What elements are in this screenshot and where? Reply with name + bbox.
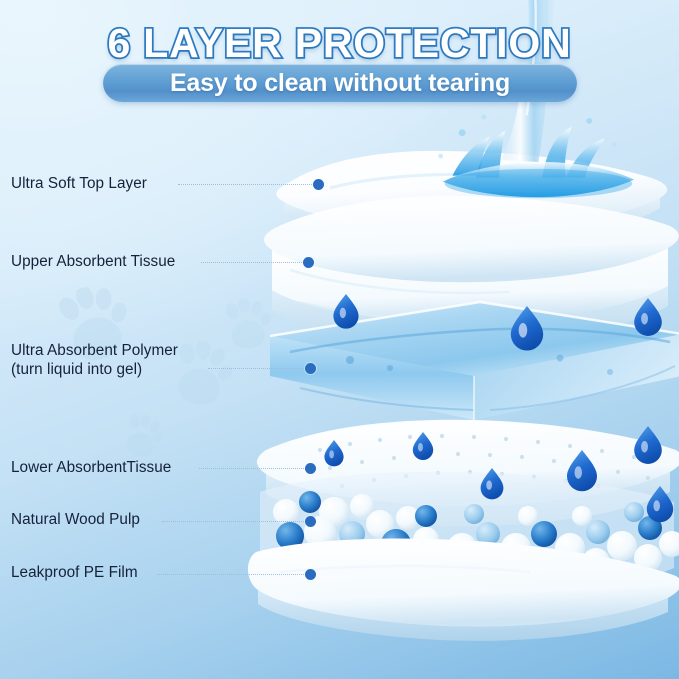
leader-line-1 (178, 184, 314, 186)
paw-print-icon (117, 410, 170, 464)
layer-3-polymer-gel-block (270, 302, 679, 420)
callout-label: Ultra Absorbent Polymer (11, 341, 178, 360)
callout-label: Natural Wood Pulp (11, 510, 140, 529)
water-droplet-icon (324, 440, 343, 466)
subtitle-pill: Easy to clean without tearing (103, 64, 577, 102)
page-title-text: 6 LAYER PROTECTION (108, 20, 572, 66)
callout-layer-3: Ultra Absorbent Polymer (turn liquid int… (11, 341, 178, 379)
leader-line-3 (208, 368, 306, 370)
callout-label-line2: (turn liquid into gel) (11, 360, 178, 379)
callout-layer-1: Ultra Soft Top Layer (11, 174, 147, 193)
water-droplet-icon (567, 450, 597, 491)
water-droplet-icon (634, 426, 662, 464)
leader-dot-5 (305, 516, 316, 527)
paw-print-icon (221, 296, 276, 353)
layer-4-lower-tissue (257, 420, 679, 527)
callout-label: Upper Absorbent Tissue (11, 252, 175, 271)
leader-line-2 (201, 262, 304, 264)
leader-line-6 (157, 574, 306, 576)
leader-line-4 (199, 468, 306, 470)
callout-layer-4: Lower AbsorbentTissue (11, 458, 171, 477)
leader-dot-1 (313, 179, 324, 190)
water-splash (438, 115, 634, 199)
layer-2-upper-tissue (264, 196, 679, 342)
leader-dot-6 (305, 569, 316, 580)
product-layer-stack-illustration (230, 120, 679, 665)
water-droplet-icon (647, 486, 673, 522)
infographic-canvas: 6 LAYER PROTECTION Easy to clean without… (0, 0, 679, 679)
callout-label: Lower AbsorbentTissue (11, 458, 171, 477)
leader-dot-3 (305, 363, 316, 374)
layer-5-wood-pulp-beads (260, 472, 679, 599)
callout-label: Ultra Soft Top Layer (11, 174, 147, 193)
subtitle-text: Easy to clean without tearing (170, 69, 510, 98)
water-droplet-icon (333, 294, 358, 329)
water-droplet-icon (634, 298, 662, 336)
page-title: 6 LAYER PROTECTION (0, 20, 679, 66)
callout-layer-2: Upper Absorbent Tissue (11, 252, 175, 271)
water-droplet-icon (511, 306, 543, 351)
layer-6-pe-film (248, 539, 679, 641)
layer-1-top-sheet (276, 151, 667, 242)
leader-dot-4 (305, 463, 316, 474)
water-droplet-icon (413, 432, 433, 460)
water-droplet-group (324, 294, 673, 522)
callout-layer-5: Natural Wood Pulp (11, 510, 140, 529)
callout-label: Leakproof PE Film (11, 563, 138, 582)
leader-line-5 (162, 521, 306, 523)
callout-layer-6: Leakproof PE Film (11, 563, 138, 582)
water-droplet-icon (481, 468, 504, 499)
leader-dot-2 (303, 257, 314, 268)
